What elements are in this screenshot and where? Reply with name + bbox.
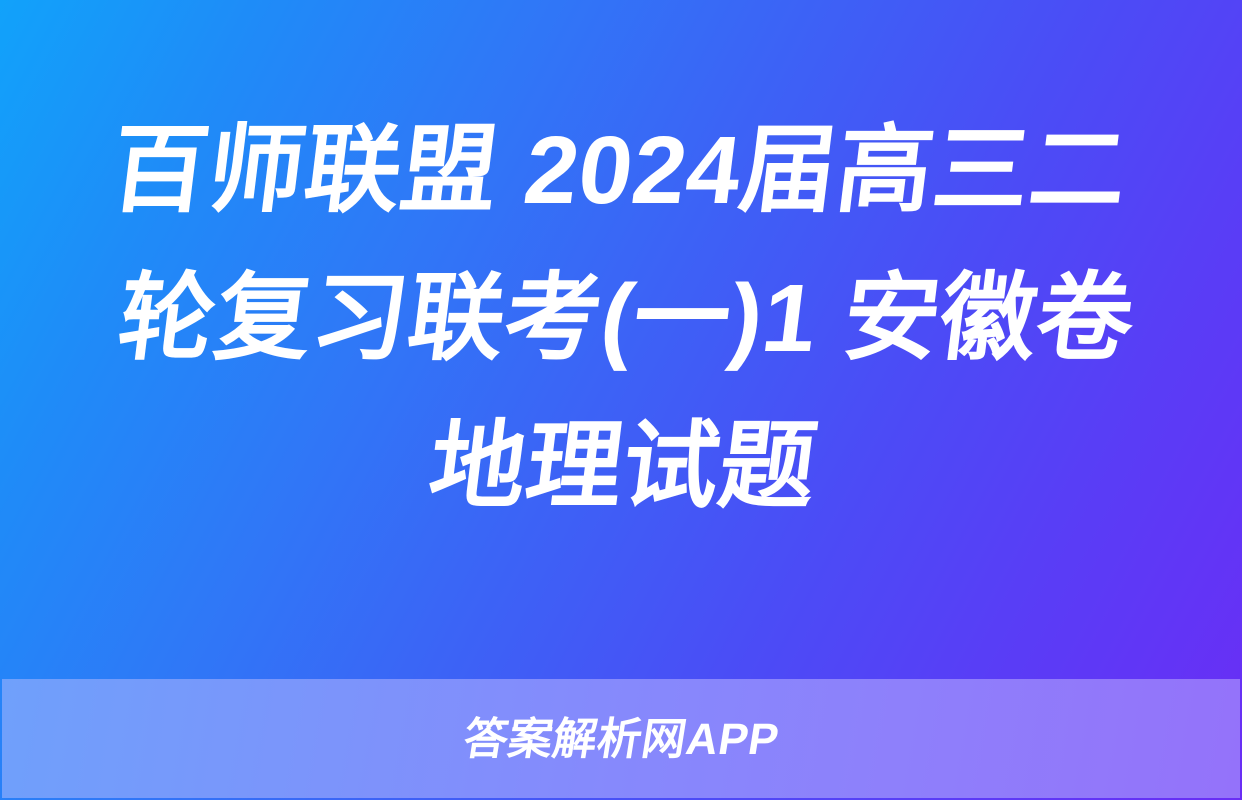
watermark-text: 答案解析网APP xyxy=(460,718,781,762)
footer-band: 答案解析网APP xyxy=(2,679,1240,798)
title-block: 百师联盟 2024届高三二 轮复习联考(一)1 安徽卷 地理试题 xyxy=(0,0,1242,679)
title-card: 百师联盟 2024届高三二 轮复习联考(一)1 安徽卷 地理试题 答案解析网AP… xyxy=(0,0,1242,800)
title-line-1: 百师联盟 2024届高三二 xyxy=(103,97,1136,245)
title-line-2: 轮复习联考(一)1 安徽卷 xyxy=(110,245,1143,393)
title-line-3: 地理试题 xyxy=(421,393,825,541)
